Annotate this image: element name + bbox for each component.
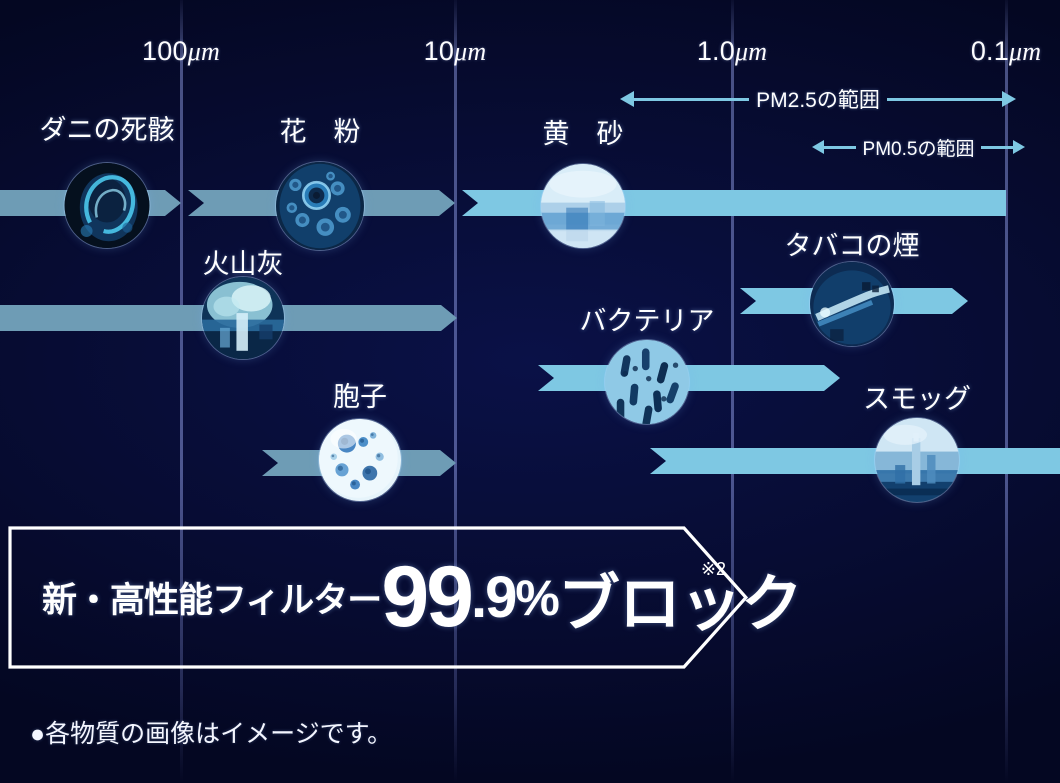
- range-bar-tobacco: [740, 288, 968, 314]
- tick-value: 0.1: [971, 36, 1009, 66]
- range-bar-spore: [262, 450, 456, 476]
- tick-unit: μm: [735, 37, 767, 66]
- arrow-left-icon: [620, 91, 634, 107]
- gridline-0.1: [1005, 0, 1008, 783]
- range-bar-yellowsand: [462, 190, 1006, 216]
- range-bar-bacteria: [538, 365, 840, 391]
- tick-value: 1.0: [697, 36, 735, 66]
- range-line: [824, 146, 856, 149]
- scale-tick-1.0: 1.0μm: [697, 36, 767, 67]
- particle-label-pollen: 花 粉: [280, 110, 361, 149]
- pm25-range-indicator: PM2.5の範囲: [620, 88, 1016, 110]
- banner-suffix: ブロック: [558, 553, 802, 643]
- footnote-text: ●各物質の画像はイメージです。: [30, 714, 392, 750]
- filter-claim-banner: 新・高性能フィルター 99 .9 % ブロック ※2: [8, 525, 748, 670]
- particle-label-bacteria: バクテリア: [580, 299, 715, 338]
- range-bar-ash: [0, 305, 457, 331]
- particle-label-smog: スモッグ: [863, 377, 971, 416]
- tick-unit: μm: [454, 37, 486, 66]
- scale-tick-0.1: 0.1μm: [971, 36, 1041, 67]
- pm25-range-label: PM2.5の範囲: [749, 84, 887, 114]
- tick-unit: μm: [1009, 37, 1041, 66]
- tick-value: 10: [424, 36, 454, 66]
- particle-label-yellowsand: 黄 砂: [543, 112, 624, 151]
- particle-label-ash: 火山灰: [203, 242, 284, 281]
- range-bar-smog: [650, 448, 1060, 474]
- particle-label-tobacco: タバコの煙: [785, 224, 920, 263]
- banner-footnote-marker: ※2: [701, 559, 726, 580]
- range-line: [887, 98, 1002, 101]
- range-bar-mite: [0, 190, 181, 216]
- banner-big-number: 99: [381, 563, 471, 632]
- arrow-left-icon: [812, 140, 824, 154]
- range-line: [634, 98, 749, 101]
- pm05-range-indicator: PM0.5の範囲: [812, 136, 1025, 158]
- pm05-range-label: PM0.5の範囲: [856, 134, 982, 161]
- particle-label-mite: ダニの死骸: [40, 108, 175, 147]
- scale-tick-100: 100μm: [142, 36, 220, 67]
- banner-percent-sign: %: [515, 569, 557, 627]
- banner-text: 新・高性能フィルター 99 .9 % ブロック: [42, 525, 802, 670]
- range-line: [981, 146, 1013, 149]
- tick-unit: μm: [188, 37, 220, 66]
- scale-tick-10: 10μm: [424, 36, 487, 67]
- arrow-right-icon: [1013, 140, 1025, 154]
- banner-decimal: .9: [471, 564, 515, 631]
- arrow-right-icon: [1002, 91, 1016, 107]
- tick-value: 100: [142, 36, 188, 66]
- range-bar-pollen: [188, 190, 455, 216]
- banner-prefix: 新・高性能フィルター: [42, 572, 381, 623]
- infographic-root: 100μm10μm1.0μm0.1μm PM2.5の範囲 PM0.5の範囲 ダニ…: [0, 0, 1060, 783]
- particle-label-spore: 胞子: [333, 375, 387, 414]
